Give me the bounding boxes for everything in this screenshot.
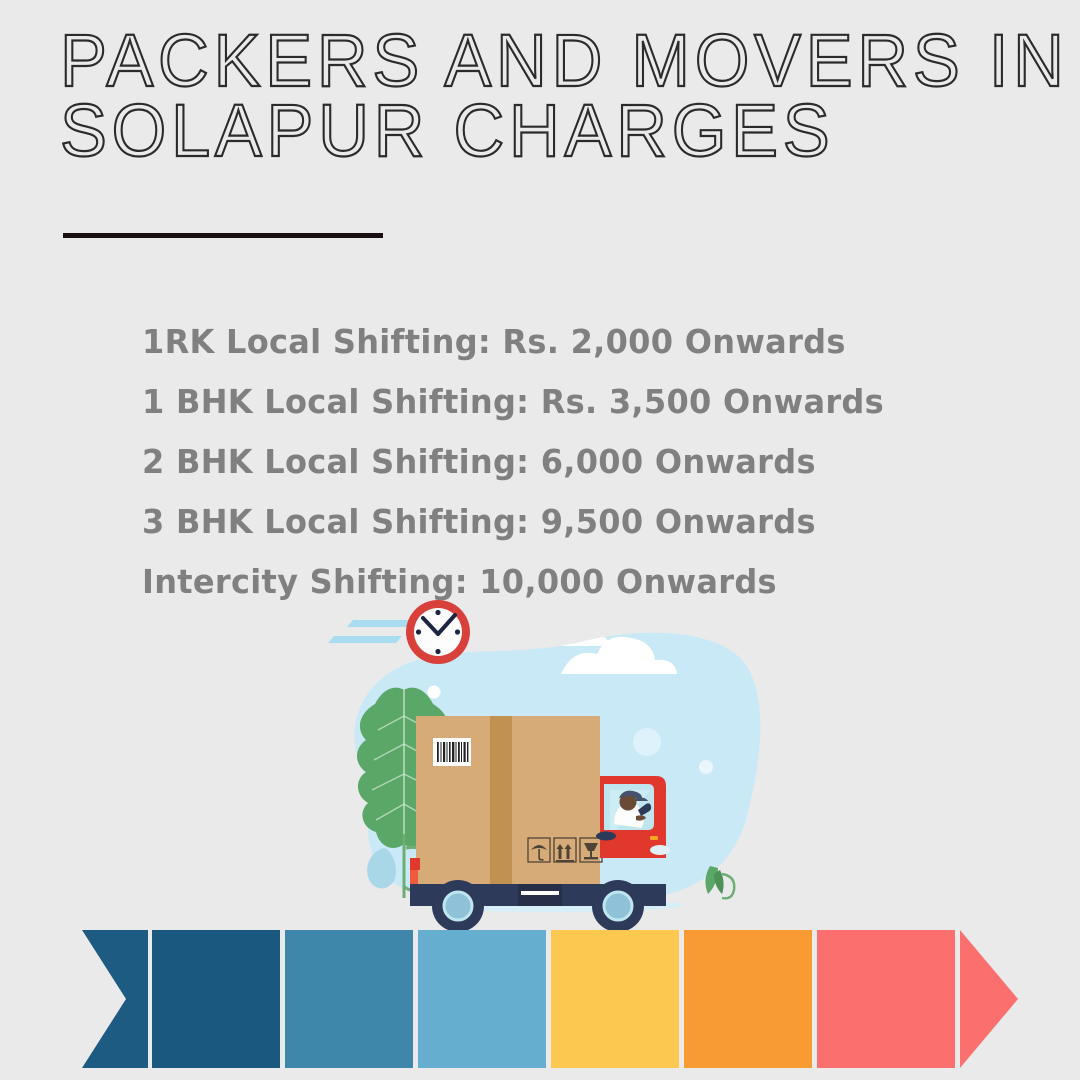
moving-truck-illustration — [318, 598, 768, 943]
price-list: 1RK Local Shifting: Rs. 2,000 Onwards 1 … — [142, 312, 1002, 612]
bar-segment — [684, 930, 812, 1068]
bar-segment — [285, 930, 413, 1068]
list-item: 2 BHK Local Shifting: 6,000 Onwards — [142, 432, 976, 492]
grass-icon — [705, 866, 734, 898]
bar-segment — [418, 930, 546, 1068]
title-divider — [63, 233, 383, 238]
side-mirror — [596, 832, 616, 841]
poster-canvas: Packers and Movers in Solapur Charges 1R… — [0, 0, 1080, 1080]
page-title: Packers and Movers in Solapur Charges — [60, 26, 1040, 166]
speed-lines-icon — [328, 620, 416, 643]
rear-light — [410, 858, 420, 870]
bubble-icon — [428, 686, 441, 699]
bar-arrow-head — [960, 930, 1018, 1068]
bar-segment — [551, 930, 679, 1068]
bubble-icon — [633, 728, 661, 756]
clock-icon — [406, 600, 470, 664]
chevron-progress-bar — [0, 928, 1080, 1073]
list-item: 1 BHK Local Shifting: Rs. 3,500 Onwards — [142, 372, 976, 432]
bar-segment — [82, 930, 148, 1068]
title-line-2: Solapur Charges — [60, 96, 991, 166]
list-item: 1RK Local Shifting: Rs. 2,000 Onwards — [142, 312, 976, 372]
truck-cab — [596, 776, 670, 858]
indicator-light — [650, 836, 658, 840]
bar-segment — [817, 930, 955, 1068]
title-line-1: Packers and Movers in — [60, 26, 991, 96]
bar-segment — [152, 930, 280, 1068]
headlight-icon — [650, 845, 670, 855]
bubble-icon — [699, 760, 713, 774]
list-item: 3 BHK Local Shifting: 9,500 Onwards — [142, 492, 976, 552]
cargo-box — [416, 716, 602, 884]
